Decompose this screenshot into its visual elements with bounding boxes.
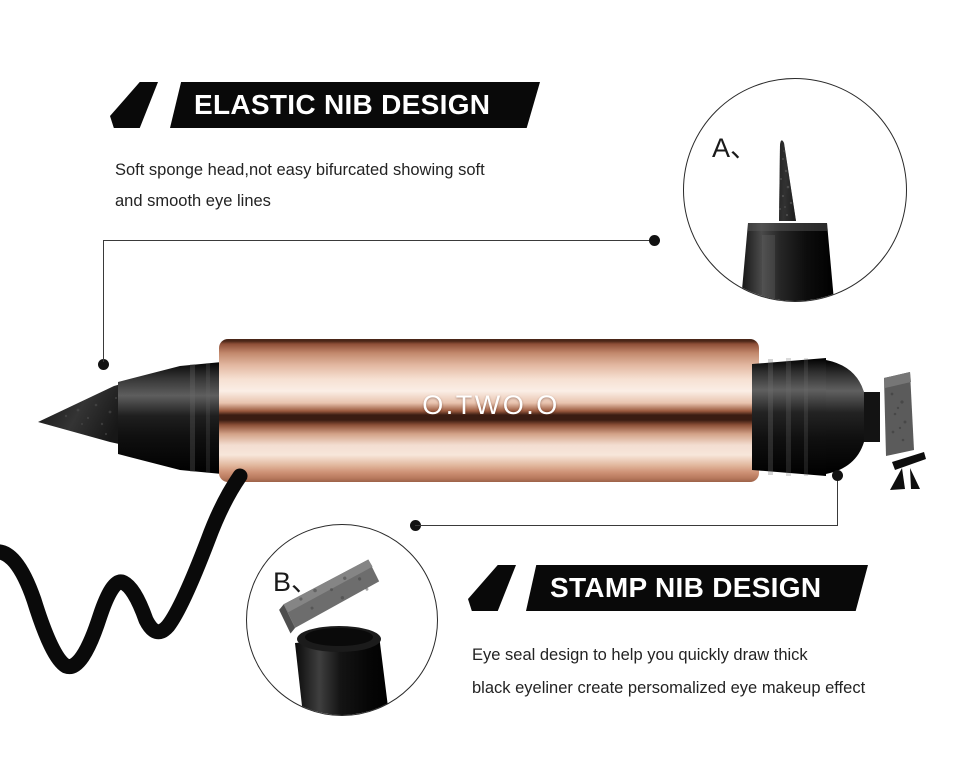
leader-dot-pen-stamp: [832, 470, 843, 481]
copy-elastic-nib-line-1: Soft sponge head,not easy bifurcated sho…: [115, 155, 485, 186]
detail-circle-a: A、: [683, 78, 907, 302]
leader-line-horizontal-top: [103, 240, 655, 242]
banner-bar: ELASTIC NIB DESIGN: [170, 82, 540, 128]
stamp-sponge-pad: [880, 370, 920, 458]
product-infographic: ELASTIC NIB DESIGN Soft sponge head,not …: [0, 0, 976, 776]
banner-elastic-nib: ELASTIC NIB DESIGN: [110, 82, 540, 128]
copy-stamp-nib-line-1: Eye seal design to help you quickly draw…: [472, 640, 808, 671]
pen-ferrule-left: [118, 362, 226, 474]
nib-closeup-illustration: [684, 79, 906, 301]
banner-title-elastic-nib: ELASTIC NIB DESIGN: [170, 91, 490, 119]
banner-stamp-nib: STAMP NIB DESIGN: [468, 565, 868, 611]
detail-circle-b-label: B、: [273, 569, 318, 596]
stamp-closeup-illustration: [247, 525, 437, 715]
banner-bar-2: STAMP NIB DESIGN: [526, 565, 868, 611]
leader-line-vertical-top: [103, 240, 105, 362]
copy-stamp-nib-line-2: black eyeliner create persomalized eye m…: [472, 673, 865, 704]
banner-title-stamp-nib: STAMP NIB DESIGN: [526, 574, 821, 602]
banner-wedge-icon: [110, 82, 158, 128]
leader-line-horizontal-bottom: [415, 525, 838, 527]
detail-circle-a-label: A、: [712, 135, 757, 162]
eyeliner-wave-stroke: [0, 440, 254, 700]
copy-elastic-nib-line-2: and smooth eye lines: [115, 186, 271, 217]
leader-dot-circle-a: [649, 235, 660, 246]
detail-circle-b: B、: [246, 524, 438, 716]
banner-wedge-icon-2: [468, 565, 516, 611]
leader-line-vertical-bottom: [837, 477, 839, 526]
stamp-direction-arrow-icon: [886, 452, 934, 490]
brand-wordmark: O.TWO.O: [396, 390, 586, 421]
